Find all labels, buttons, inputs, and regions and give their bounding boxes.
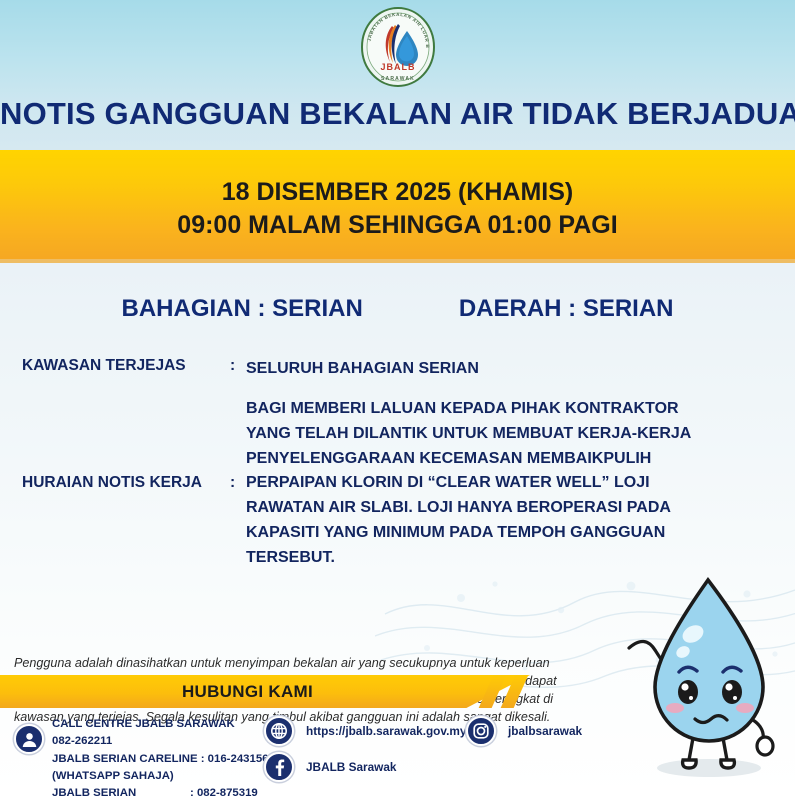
work-notice-text: BAGI MEMBERI LALUAN KEPADA PIHAK KONTRAK… [246, 397, 691, 571]
serian-label: JBALB SERIAN [52, 787, 136, 796]
text-line-5: RAWATAN AIR SLABI. LOJI HANYA BEROPERASI… [246, 496, 691, 521]
facebook-icon[interactable] [264, 752, 294, 782]
call-centre-phone[interactable]: 082-262211 [52, 733, 294, 750]
call-centre-name: CALL CENTRE JBALB SARAWAK [52, 716, 294, 733]
text-line-7: TERSEBUT. [246, 546, 691, 571]
call-centre-block: CALL CENTRE JBALB SARAWAK 082-262211 JBA… [52, 716, 294, 796]
contact-list: CALL CENTRE JBALB SARAWAK 082-262211 JBA… [0, 708, 795, 796]
serian-row: JBALB SERIAN : 082-875319 [52, 785, 294, 796]
page-title: NOTIS GANGGUAN BEKALAN AIR TIDAK BERJADU… [0, 96, 795, 132]
text-line-3: PENYELENGGARAAN KECEMASAN MEMBAIKPULIH [246, 447, 691, 472]
work-notice-row: HURAIAN NOTIS KERJA : BAGI MEMBERI LALUA… [22, 397, 765, 571]
careline-note: (WHATSAPP SAHAJA) [52, 768, 294, 785]
website-url[interactable]: https://jbalb.sarawak.gov.my/ [306, 724, 470, 738]
district-label: DAERAH : SERIAN [459, 295, 674, 323]
work-notice-colon: : [230, 474, 246, 494]
division-label: BAHAGIAN : SERIAN [121, 295, 362, 323]
affected-area-value: SELURUH BAHAGIAN SERIAN [246, 357, 479, 382]
facebook-handle[interactable]: JBALB Sarawak [306, 760, 396, 774]
work-notice-label: HURAIAN NOTIS KERJA [22, 474, 230, 494]
svg-text:SARAWAK: SARAWAK [381, 76, 415, 82]
notice-time: 09:00 MALAM SEHINGGA 01:00 PAGI [177, 209, 617, 242]
poster-footer: HUBUNGI KAMI CALL CENTRE JBALB SARAWAK 0… [0, 675, 795, 796]
water-disruption-notice-poster: JBALB SARAWAK JABATAN BEKALAN AIR LUAR B… [0, 0, 795, 796]
affected-area-colon: : [230, 357, 246, 382]
instagram-handle[interactable]: jbalbsarawak [508, 724, 582, 738]
text-line-6: KAPASITI YANG MINIMUM PADA TEMPOH GANGGU… [246, 521, 691, 546]
careline-number[interactable]: JBALB SERIAN CARELINE : 016-2431566 [52, 751, 294, 768]
poster-header: JBALB SARAWAK JABATAN BEKALAN AIR LUAR B… [0, 0, 795, 150]
contact-banner-title: HUBUNGI KAMI [0, 675, 495, 708]
instagram-icon[interactable] [466, 716, 496, 746]
text-line-4: PERPAIPAN KLORIN DI “CLEAR WATER WELL” L… [246, 471, 691, 496]
text-line-2: YANG TELAH DILANTIK UNTUK MEMBUAT KERJA-… [246, 422, 691, 447]
notice-date: 18 DISEMBER 2025 (KHAMIS) [222, 176, 573, 209]
jbalb-logo: JBALB SARAWAK JABATAN BEKALAN AIR LUAR B… [354, 6, 442, 88]
person-icon [14, 724, 44, 754]
affected-area-label: KAWASAN TERJEJAS [22, 357, 230, 382]
region-row: BAHAGIAN : SERIAN DAERAH : SERIAN [0, 295, 795, 323]
text-line-1: Pengguna adalah dinasihatkan untuk menyi… [14, 655, 584, 673]
date-time-banner: 18 DISEMBER 2025 (KHAMIS) 09:00 MALAM SE… [0, 150, 795, 263]
serian-number[interactable]: : 082-875319 [190, 785, 258, 796]
globe-icon[interactable] [264, 716, 294, 746]
affected-area-row: KAWASAN TERJEJAS : SELURUH BAHAGIAN SERI… [22, 357, 765, 382]
svg-text:JBALB: JBALB [380, 62, 415, 72]
text-line-1: BAGI MEMBERI LALUAN KEPADA PIHAK KONTRAK… [246, 397, 691, 422]
